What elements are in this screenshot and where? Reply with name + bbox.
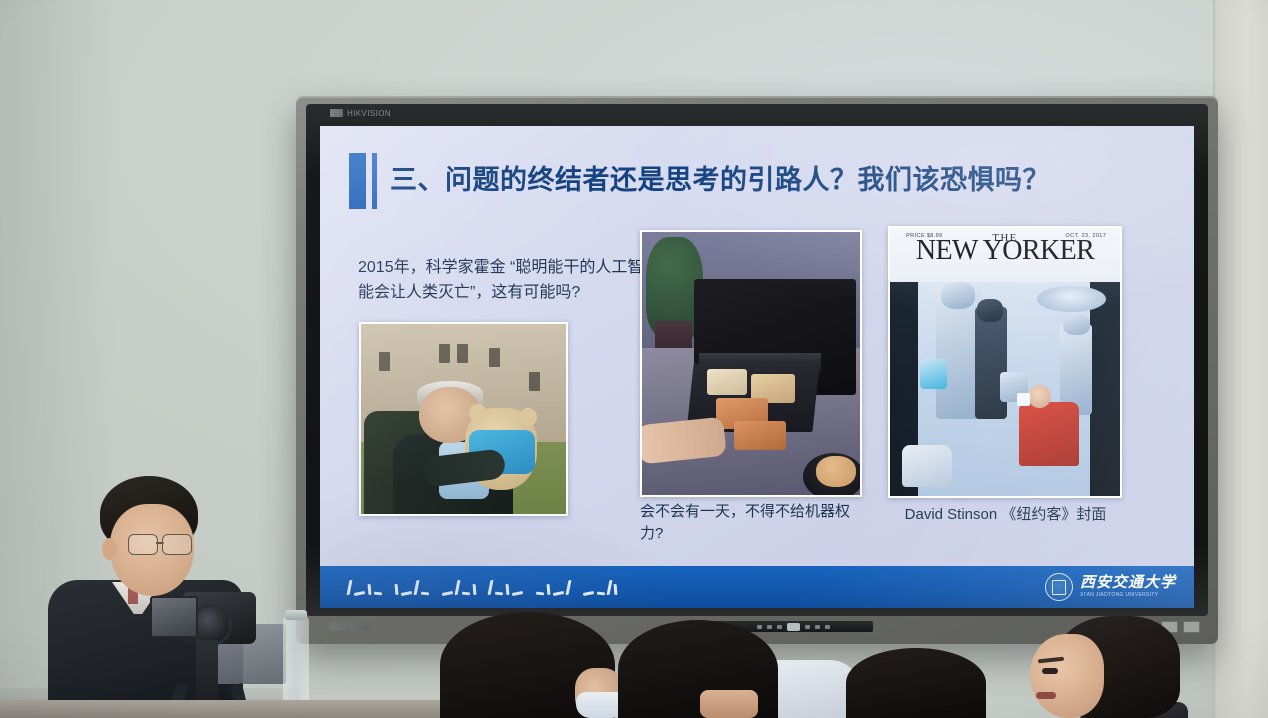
- hawking-photo: [359, 322, 568, 516]
- oven-photo-art: [642, 232, 860, 495]
- volume-down-button[interactable]: [767, 625, 772, 629]
- hikvision-logo-icon: [330, 109, 343, 117]
- audience-right-eye: [1042, 668, 1058, 674]
- building-window: [457, 344, 468, 363]
- building-window: [379, 352, 390, 371]
- university-seal-icon: [1045, 573, 1073, 601]
- begging-human: [1019, 402, 1079, 466]
- robot-walking: [975, 307, 1007, 418]
- robot-device: [920, 359, 948, 389]
- ceiling-lamp: [1037, 286, 1106, 312]
- magazine-masthead: PRICE $8.99 OCT. 23, 2017 THE NEW YORKER: [890, 228, 1120, 287]
- robot-server: [1060, 324, 1092, 414]
- display-brand-logo: HIKVISION: [330, 106, 460, 120]
- back-button[interactable]: [825, 625, 830, 629]
- room-wall-right-panel: [1215, 0, 1268, 718]
- new-yorker-cover-art: PRICE $8.99 OCT. 23, 2017 THE NEW YORKER: [890, 228, 1120, 496]
- motto-glyph: [583, 580, 617, 595]
- title-accent-bar: [349, 153, 366, 209]
- teddy-bear-ear: [519, 408, 537, 426]
- building-window: [489, 348, 500, 367]
- power-button[interactable]: [787, 623, 800, 631]
- audience-right-face: [1030, 634, 1104, 718]
- home-button[interactable]: [815, 625, 820, 629]
- slide-title: 三、问题的终结者还是思考的引路人？我们该恐惧吗？: [390, 158, 1160, 197]
- display-bottom-logo: [330, 622, 370, 630]
- motto-glyph: [348, 580, 382, 595]
- university-name-cn: 西安交通大学: [1080, 576, 1176, 591]
- audience-right-lip: [1036, 692, 1056, 699]
- bread: [816, 456, 855, 488]
- robot-head: [1063, 314, 1091, 335]
- display-screen[interactable]: 三、问题的终结者还是思考的引路人？我们该恐惧吗？ 2015年，科学家霍金 “聪明…: [320, 126, 1194, 608]
- motto-glyph: [489, 580, 523, 595]
- menu-button[interactable]: [757, 625, 762, 629]
- water-bottle-cap: [285, 610, 307, 620]
- building-window: [439, 344, 450, 363]
- begging-cup: [1017, 393, 1031, 406]
- camera-flip-screen: [150, 596, 198, 638]
- food-item: [734, 421, 786, 450]
- food-item: [707, 369, 746, 395]
- lecture-room-scene: HIKVISION 三、问题的终结者还是思考的引路人？我们该恐惧吗？ 2015年…: [0, 0, 1268, 718]
- slide-paragraph: 2015年，科学家霍金 “聪明能干的人工智能会让人类灭亡”，这有可能吗?: [358, 256, 648, 306]
- display-brand-label: HIKVISION: [347, 109, 391, 118]
- university-name-en: XI'AN JIAOTONG UNIVERSITY: [1080, 593, 1176, 598]
- volume-up-button[interactable]: [777, 625, 782, 629]
- new-yorker-caption: David Stinson 《纽约客》封面: [888, 504, 1123, 526]
- presenter-ear: [102, 538, 117, 560]
- water-bottle: [283, 616, 309, 702]
- presentation-slide: 三、问题的终结者还是思考的引路人？我们该恐惧吗？ 2015年，科学家霍金 “聪明…: [320, 126, 1194, 608]
- motto-glyph: [536, 580, 570, 595]
- presenter-glasses-icon: [128, 534, 196, 553]
- building-window: [529, 372, 540, 391]
- robot-head: [941, 282, 976, 310]
- illustration-right-panel: [1090, 282, 1120, 496]
- university-name: 西安交通大学 XI'AN JIAOTONG UNIVERSITY: [1080, 576, 1176, 598]
- new-yorker-cover-photo: PRICE $8.99 OCT. 23, 2017 THE NEW YORKER: [888, 226, 1122, 498]
- motto-glyph: [442, 580, 476, 595]
- hawking-photo-art: [361, 324, 566, 514]
- university-motto-calligraphy: [348, 574, 617, 600]
- slide-footer-band: 西安交通大学 XI'AN JIAOTONG UNIVERSITY: [320, 566, 1194, 608]
- table-edge: [0, 700, 440, 718]
- audience-member-right: [1012, 616, 1188, 718]
- robot-oven-photo: [640, 230, 862, 497]
- title-accent-line: [372, 153, 377, 209]
- audience-member-2-neck: [700, 690, 758, 718]
- cover-illustration: [890, 282, 1120, 496]
- begging-human-head: [1028, 385, 1051, 409]
- robot-dog: [902, 445, 953, 488]
- magazine-title: NEW YORKER: [916, 235, 1094, 267]
- source-button[interactable]: [805, 625, 810, 629]
- teddy-bear-ear: [469, 404, 487, 422]
- university-branding: 西安交通大学 XI'AN JIAOTONG UNIVERSITY: [1045, 572, 1176, 602]
- oven-photo-caption: 会不会有一天，不得不给机器权力?: [640, 501, 855, 545]
- motto-glyph: [395, 580, 429, 595]
- robot-head: [977, 299, 1002, 323]
- audience-member-3: [846, 648, 986, 718]
